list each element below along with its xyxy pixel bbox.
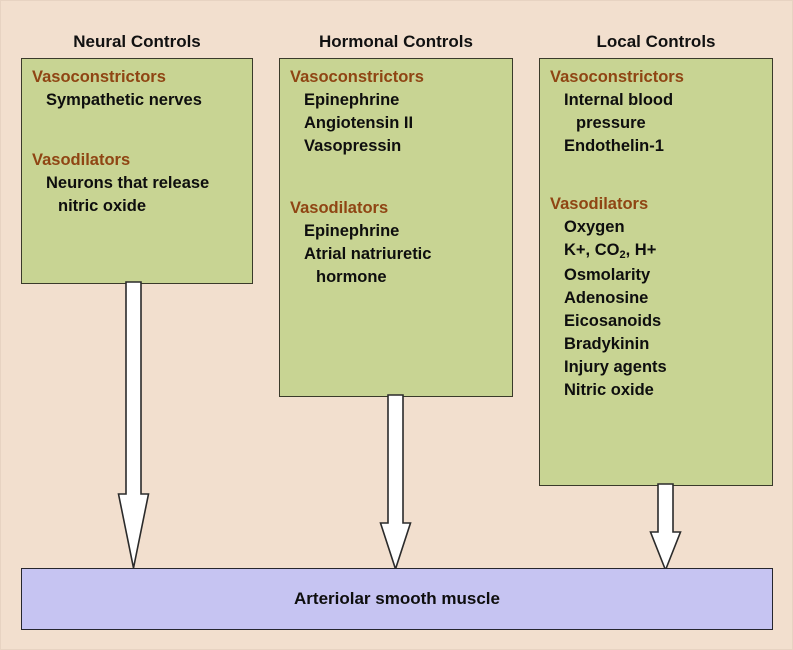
target-bar-arteriolar-smooth-muscle: Arteriolar smooth muscle <box>21 568 773 630</box>
list-item-potassium-co2-h: K+, CO2, H+ <box>564 239 772 264</box>
list-item-continuation: pressure <box>576 112 772 135</box>
down-arrow-icon <box>651 484 681 570</box>
list-item: Atrial natriuretic hormone <box>304 243 512 289</box>
list-item-subscript: 2 <box>619 249 625 261</box>
control-box-hormonal: Vasoconstrictors Epinephrine Angiotensin… <box>279 58 513 397</box>
spacer <box>540 158 772 194</box>
section-title-neural-vasodilators: Vasodilators <box>32 150 252 171</box>
item-list-local-vasoconstrictors: Internal blood pressure Endothelin-1 <box>540 89 772 158</box>
list-item: Epinephrine <box>304 220 512 243</box>
column-header-neural: Neural Controls <box>21 32 253 52</box>
column-header-hormonal: Hormonal Controls <box>279 32 513 52</box>
target-bar-label: Arteriolar smooth muscle <box>294 589 500 609</box>
list-item-text: Atrial natriuretic <box>304 245 431 263</box>
arrow-hormonal-to-target <box>373 395 423 573</box>
item-list-neural-vasodilators: Neurons that release nitric oxide <box>22 172 252 218</box>
list-item: Neurons that release nitric oxide <box>46 172 252 218</box>
section-title-hormonal-vasoconstrictors: Vasoconstrictors <box>290 67 512 88</box>
list-item: Nitric oxide <box>564 379 772 402</box>
control-box-neural: Vasoconstrictors Sympathetic nerves Vaso… <box>21 58 253 284</box>
section-title-hormonal-vasodilators: Vasodilators <box>290 198 512 219</box>
list-item: Osmolarity <box>564 264 772 287</box>
section-title-neural-vasoconstrictors: Vasoconstrictors <box>32 67 252 88</box>
list-item: Oxygen <box>564 216 772 239</box>
list-item-text: Neurons that release <box>46 174 209 192</box>
down-arrow-icon <box>119 282 149 568</box>
list-item-text-after: , H+ <box>626 241 657 259</box>
down-arrow-icon <box>381 395 411 569</box>
diagram-canvas: Neural Controls Vasoconstrictors Sympath… <box>0 0 793 650</box>
item-list-neural-vasoconstrictors: Sympathetic nerves <box>22 89 252 112</box>
list-item: Internal blood pressure <box>564 89 772 135</box>
list-item: Adenosine <box>564 287 772 310</box>
item-list-hormonal-vasoconstrictors: Epinephrine Angiotensin II Vasopressin <box>280 89 512 158</box>
list-item: Bradykinin <box>564 333 772 356</box>
control-box-local: Vasoconstrictors Internal blood pressure… <box>539 58 773 486</box>
list-item-text: Internal blood <box>564 91 673 109</box>
spacer <box>22 112 252 150</box>
arrow-local-to-target <box>643 484 693 574</box>
list-item: Endothelin-1 <box>564 135 772 158</box>
list-item-continuation: hormone <box>316 266 512 289</box>
list-item: Injury agents <box>564 356 772 379</box>
item-list-hormonal-vasodilators: Epinephrine Atrial natriuretic hormone <box>280 220 512 289</box>
list-item: Angiotensin II <box>304 112 512 135</box>
list-item: Sympathetic nerves <box>46 89 252 112</box>
item-list-local-vasodilators: Oxygen K+, CO2, H+ Osmolarity Adenosine … <box>540 216 772 402</box>
spacer <box>280 158 512 198</box>
column-header-local: Local Controls <box>539 32 773 52</box>
arrow-neural-to-target <box>111 282 161 572</box>
list-item: Epinephrine <box>304 89 512 112</box>
list-item: Vasopressin <box>304 135 512 158</box>
section-title-local-vasodilators: Vasodilators <box>550 194 772 215</box>
list-item: Eicosanoids <box>564 310 772 333</box>
list-item-continuation: nitric oxide <box>58 195 252 218</box>
list-item-text: K+, CO <box>564 241 619 259</box>
section-title-local-vasoconstrictors: Vasoconstrictors <box>550 67 772 88</box>
